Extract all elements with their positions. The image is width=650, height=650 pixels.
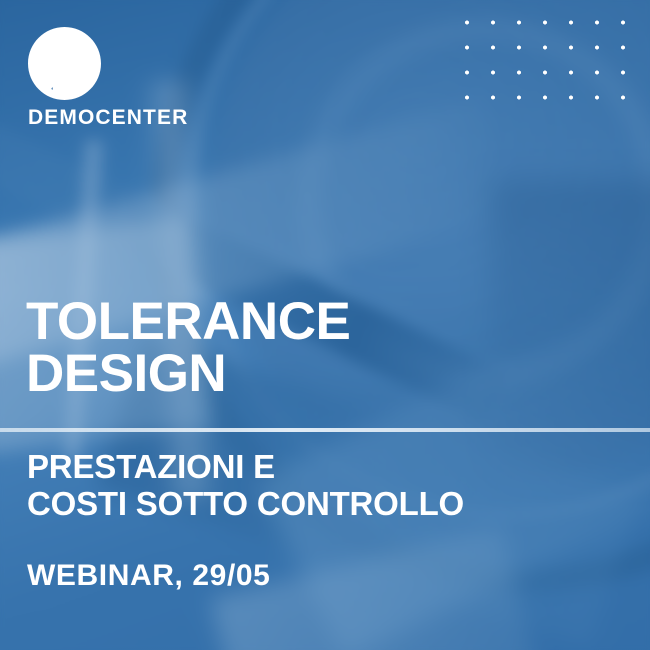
- page-title-line-2: DESIGN: [26, 348, 350, 400]
- dot-grid-pattern-icon: [454, 10, 642, 120]
- page-title: TOLERANCE DESIGN: [26, 296, 350, 400]
- horizontal-rule-divider: [0, 428, 650, 432]
- democenter-wordmark: DEMOCENTER: [28, 107, 188, 128]
- webinar-promo-poster: DEMOCENTER TOLERANCE DESIGN PRESTAZIONI …: [0, 0, 650, 650]
- page-subtitle: PRESTAZIONI E COSTI SOTTO CONTROLLO: [27, 449, 464, 523]
- democenter-circle-d-logo-icon: [28, 27, 101, 100]
- page-subtitle-line-2: COSTI SOTTO CONTROLLO: [27, 486, 464, 523]
- page-title-line-1: TOLERANCE: [26, 296, 350, 348]
- event-date-label: WEBINAR, 29/05: [27, 561, 270, 591]
- page-subtitle-line-1: PRESTAZIONI E: [27, 449, 464, 486]
